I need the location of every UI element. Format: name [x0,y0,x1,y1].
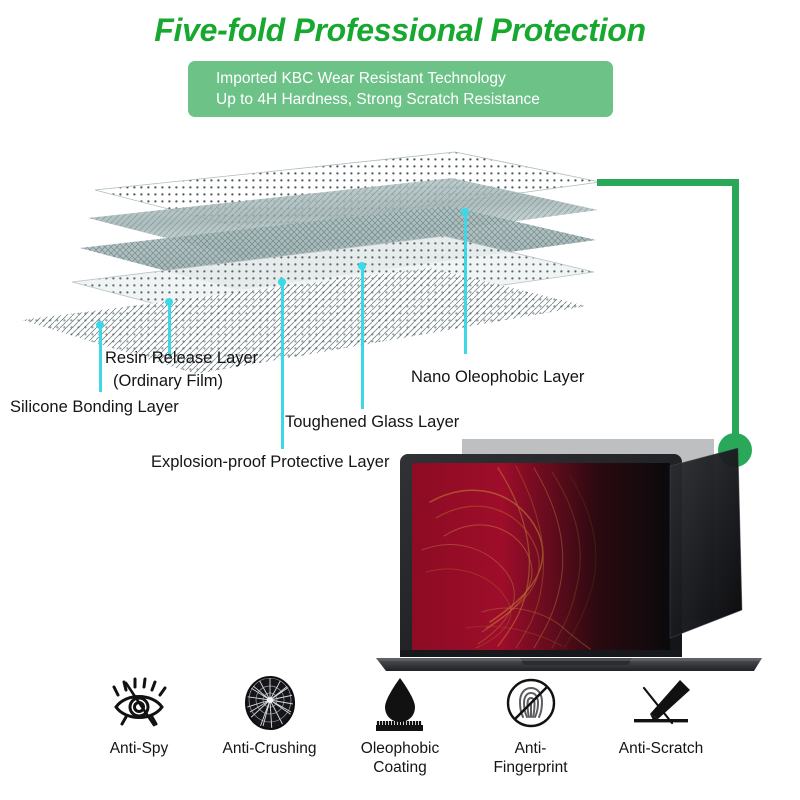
leader-line-nano [464,212,467,354]
layer-label-explosion: Explosion-proof Protective Layer [151,452,389,473]
feature-oleophobic-coating: Oleophobic Coating [341,672,459,777]
laptop-product-image [370,432,790,677]
subtitle-banner: Imported KBC Wear Resistant Technology U… [188,61,613,117]
connector-horizontal [597,179,739,186]
feature-anti-fingerprint: Anti- Fingerprint [472,672,590,777]
shattered-glass-icon [241,672,299,734]
layer-label-resin-sub: (Ordinary Film) [113,371,223,392]
water-droplet-icon [370,672,430,734]
layer-stack-diagram [0,130,640,400]
feature-label: Anti-Spy [110,739,169,758]
layer-label-resin: Resin Release Layer [105,348,258,369]
subtitle-line-1: Imported KBC Wear Resistant Technology [216,68,613,89]
fingerprint-slash-icon [502,672,560,734]
feature-anti-spy: Anti-Spy [80,672,198,758]
subtitle-line-2: Up to 4H Hardness, Strong Scratch Resist… [216,89,613,110]
layer-label-nano: Nano Oleophobic Layer [411,367,584,388]
feature-label: Anti-Crushing [223,739,317,758]
feature-label: Anti-Scratch [619,739,703,758]
blade-scratch-icon [628,672,694,734]
connector-vertical [732,179,739,452]
leader-line-toughened [361,266,364,409]
layer-label-toughened: Toughened Glass Layer [285,412,459,433]
feature-label: Anti- Fingerprint [493,739,567,777]
feature-label: Oleophobic Coating [361,739,439,777]
feature-list: Anti-Spy [80,672,720,792]
leader-line-explosion [281,282,284,449]
feature-anti-crushing: Anti-Crushing [211,672,329,758]
feature-anti-scratch: Anti-Scratch [602,672,720,758]
layer-label-silicone: Silicone Bonding Layer [10,397,179,418]
infographic-root: Five-fold Professional Protection Import… [0,0,800,800]
eye-slash-icon [104,672,174,734]
leader-line-silicone [99,325,102,392]
page-title: Five-fold Professional Protection [0,12,800,49]
